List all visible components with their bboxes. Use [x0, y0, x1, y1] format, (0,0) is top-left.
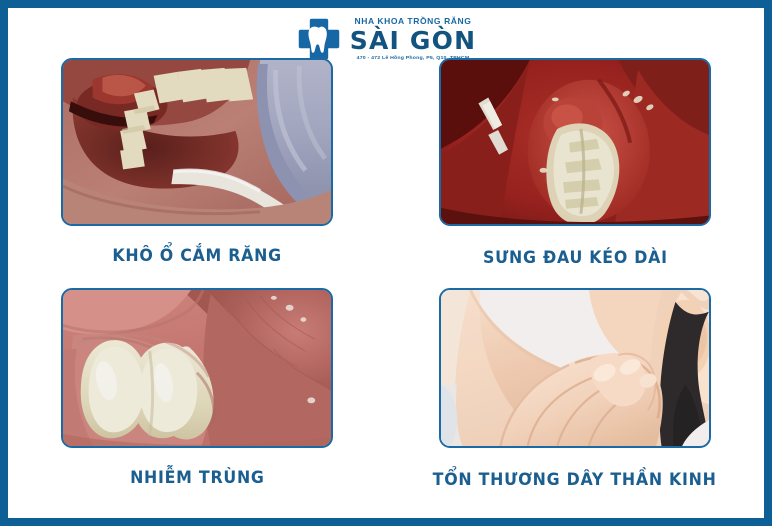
brand-name: SÀI GÒN [350, 28, 476, 53]
card-caption: KHÔ Ổ CẮM RĂNG [112, 246, 281, 266]
card-caption: TỔN THƯƠNG DÂY THẦN KINH [433, 470, 717, 490]
poster-inner: NHA KHOA TRỒNG RĂNG SÀI GÒN 470 - 472 Lê… [8, 8, 764, 518]
dental-cross-tooth-icon [296, 16, 342, 62]
prolonged-swelling-pain-photo [441, 60, 709, 226]
photo-frame [439, 288, 711, 448]
brand-tagline: NHA KHOA TRỒNG RĂNG [354, 17, 471, 26]
nerve-damage-photo [441, 290, 709, 448]
dry-socket-extraction-photo [63, 60, 331, 226]
photo-frame [61, 288, 333, 448]
card-caption: SƯNG ĐAU KÉO DÀI [483, 248, 668, 268]
card-prolonged-swelling: SƯNG ĐAU KÉO DÀI [386, 58, 764, 288]
card-infection: NHIỄM TRÙNG [8, 288, 386, 518]
brand-logo-text: NHA KHOA TRỒNG RĂNG SÀI GÒN 470 - 472 Lê… [350, 17, 476, 61]
photo-frame [61, 58, 333, 226]
card-dry-socket: KHÔ Ổ CẮM RĂNG [8, 58, 386, 288]
symptom-card-grid: KHÔ Ổ CẮM RĂNG [8, 58, 764, 518]
card-caption: NHIỄM TRÙNG [130, 468, 265, 488]
infection-photo [63, 290, 331, 448]
card-nerve-damage: TỔN THƯƠNG DÂY THẦN KINH [386, 288, 764, 518]
photo-frame [439, 58, 711, 226]
poster-root: NHA KHOA TRỒNG RĂNG SÀI GÒN 470 - 472 Lê… [0, 0, 772, 526]
